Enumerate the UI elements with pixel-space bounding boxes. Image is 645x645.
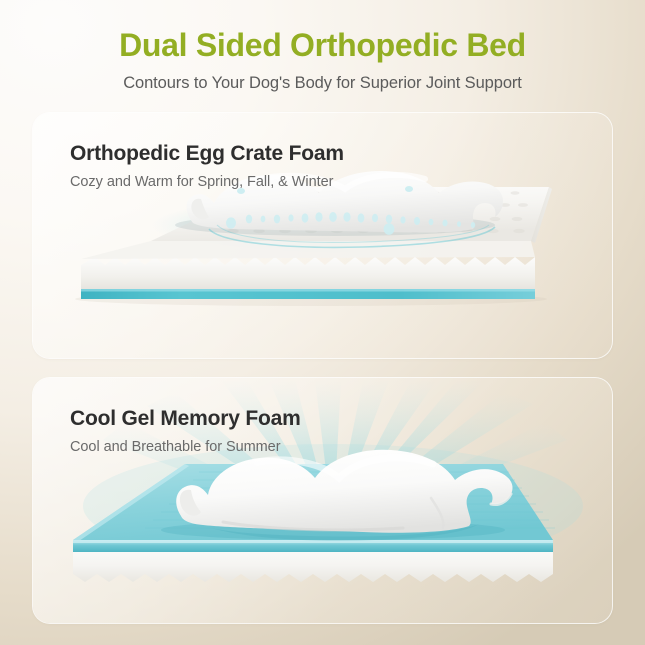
page-subtitle: Contours to Your Dog's Body for Superior…	[0, 73, 645, 94]
page-title: Dual Sided Orthopedic Bed	[0, 26, 645, 64]
header: Dual Sided Orthopedic Bed Contours to Yo…	[0, 26, 645, 94]
card-title-cool-gel: Cool Gel Memory Foam	[70, 406, 301, 432]
card-header-cool-gel: Cool Gel Memory Foam Cool and Breathable…	[70, 406, 301, 457]
card-subtitle-cool-gel: Cool and Breathable for Summer	[70, 438, 301, 457]
feature-card-cool-gel: Cool Gel Memory Foam Cool and Breathable…	[33, 378, 612, 623]
card-subtitle-egg-crate: Cozy and Warm for Spring, Fall, & Winter	[70, 173, 344, 192]
feature-card-egg-crate: Orthopedic Egg Crate Foam Cozy and Warm …	[33, 113, 612, 358]
card-title-egg-crate: Orthopedic Egg Crate Foam	[70, 141, 344, 167]
product-infographic: Dual Sided Orthopedic Bed Contours to Yo…	[0, 0, 645, 645]
card-header-egg-crate: Orthopedic Egg Crate Foam Cozy and Warm …	[70, 141, 344, 192]
